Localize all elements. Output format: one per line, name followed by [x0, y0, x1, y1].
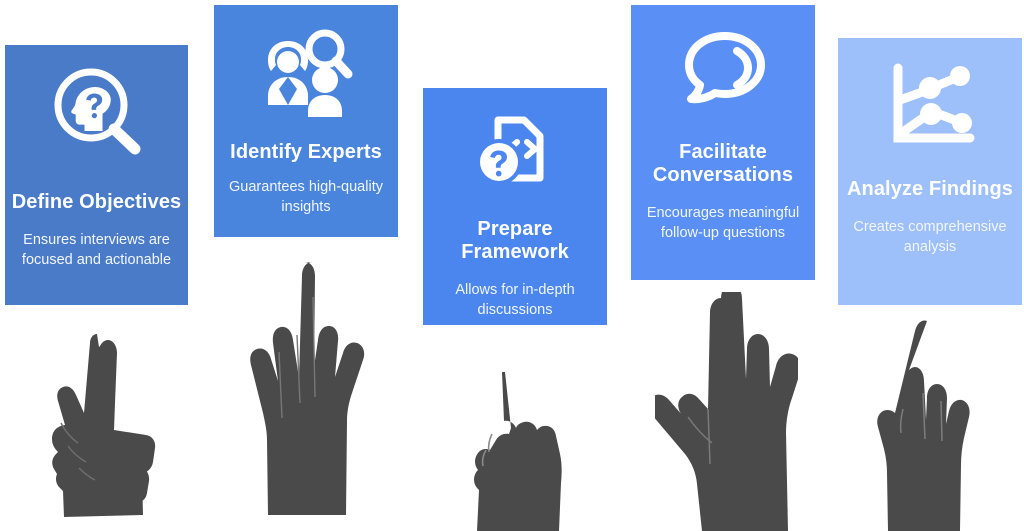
pointing-hand-icon-5: [875, 317, 987, 531]
pointing-hand-icon-3: [456, 372, 582, 531]
step-card-title: Facilitate Conversations: [631, 141, 815, 187]
infographic-canvas: Define Objectives Ensures interviews are…: [0, 0, 1024, 531]
step-card-title: Analyze Findings: [841, 178, 1019, 201]
pointing-hand-icon-1: [34, 322, 169, 531]
step-card-title: Prepare Framework: [423, 218, 607, 264]
step-card-description: Guarantees high-quality insights: [214, 177, 398, 218]
step-card-prepare-framework[interactable]: Prepare Framework Allows for in-depth di…: [423, 88, 607, 325]
pointing-hand-icon-2: [250, 257, 370, 531]
step-card-identify-experts[interactable]: Identify Experts Guarantees high-quality…: [214, 5, 398, 237]
step-card-facilitate-conversations[interactable]: Facilitate Conversations Encourages mean…: [631, 5, 815, 280]
head-question-magnifier-icon: [5, 45, 188, 155]
people-search-icon: [214, 5, 398, 117]
step-card-analyze-findings[interactable]: Analyze Findings Creates comprehensive a…: [838, 38, 1022, 305]
step-card-description: Allows for in-depth discussions: [423, 280, 607, 321]
step-card-description: Ensures interviews are focused and actio…: [5, 230, 188, 271]
pointing-hand-icon-4: [655, 292, 798, 531]
scatter-chart-icon: [838, 38, 1022, 148]
step-card-title: Identify Experts: [224, 141, 388, 164]
step-card-define-objectives[interactable]: Define Objectives Ensures interviews are…: [5, 45, 188, 305]
step-card-description: Creates comprehensive analysis: [838, 217, 1022, 258]
step-card-title: Define Objectives: [6, 191, 188, 214]
speech-bubble-icon: [631, 5, 815, 111]
step-card-description: Encourages meaningful follow-up question…: [631, 203, 815, 244]
document-code-question-icon: [423, 88, 607, 196]
